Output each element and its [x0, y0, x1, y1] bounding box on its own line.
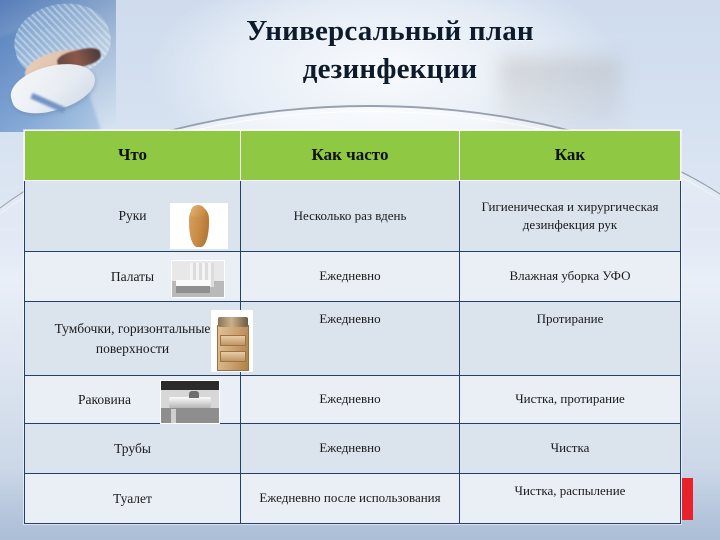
table-row: Трубы Ежедневно Чистка	[25, 424, 681, 474]
cell-what-wards: Палаты	[25, 252, 241, 302]
cell-how-often-wards: Ежедневно	[241, 252, 460, 302]
drawer-shape-lower	[220, 351, 246, 362]
column-header-how-often: Как часто	[241, 131, 460, 181]
cell-how-often-nightstands: Ежедневно	[241, 302, 460, 376]
finger-shape	[191, 205, 205, 217]
cell-how-often-pipes: Ежедневно	[241, 424, 460, 474]
nightstand-photo-icon	[211, 310, 253, 372]
pipe-shape	[171, 409, 176, 423]
cell-how-toilet: Чистка, распыление	[460, 474, 681, 524]
cell-how-hands: Гигиеническая и хирургическая дезинфекци…	[460, 181, 681, 252]
cabinet-shape	[217, 325, 249, 371]
column-header-how: Как	[460, 131, 681, 181]
table-row: Раковина Ежедневно Чистка, протирание	[25, 376, 681, 424]
sink-photo-icon	[160, 380, 220, 424]
cell-how-often-hands: Несколько раз вдень	[241, 181, 460, 252]
surgeon-photo	[0, 0, 116, 132]
cell-what-toilet: Туалет	[25, 474, 241, 524]
hands-photo-icon	[170, 203, 228, 249]
table-row: Тумбочки, горизонтальные поверхности Еже…	[25, 302, 681, 376]
cell-how-sink: Чистка, протирание	[460, 376, 681, 424]
faucet-shape	[189, 391, 199, 398]
cell-what-label: Тумбочки, горизонтальные поверхности	[33, 319, 232, 357]
slide-title-line-2: дезинфекции	[140, 50, 640, 88]
ward-room-photo-icon	[171, 260, 225, 298]
cell-what-pipes: Трубы	[25, 424, 241, 474]
table-row: Руки Несколько раз вдень Гигиеническая и…	[25, 181, 681, 252]
bed-shape	[176, 280, 210, 293]
cell-how-pipes: Чистка	[460, 424, 681, 474]
tabletop-items-shape	[218, 317, 248, 327]
basin-shape	[169, 397, 211, 408]
table-header-row: Что Как часто Как	[25, 131, 681, 181]
cell-what-nightstands: Тумбочки, горизонтальные поверхности	[25, 302, 241, 376]
cell-what-hands: Руки	[25, 181, 241, 252]
cell-how-often-sink: Ежедневно	[241, 376, 460, 424]
slide-title: Универсальный план дезинфекции	[140, 12, 640, 89]
cell-how-wards: Влажная уборка УФО	[460, 252, 681, 302]
drawer-shape-upper	[220, 335, 246, 346]
cell-what-sink: Раковина	[25, 376, 241, 424]
cell-how-nightstands: Протирание	[460, 302, 681, 376]
slide-title-line-1: Универсальный план	[140, 12, 640, 50]
disinfection-plan-table: Что Как часто Как Руки Несколько раз вде…	[24, 130, 681, 524]
cell-how-often-toilet: Ежедневно после использования	[241, 474, 460, 524]
table-row: Туалет Ежедневно после использования Чис…	[25, 474, 681, 524]
table-row: Палаты Ежедневно Влажная уборка УФО	[25, 252, 681, 302]
column-header-what: Что	[25, 131, 241, 181]
photo-overlay-shade	[0, 0, 116, 132]
red-accent-bar	[682, 478, 693, 520]
